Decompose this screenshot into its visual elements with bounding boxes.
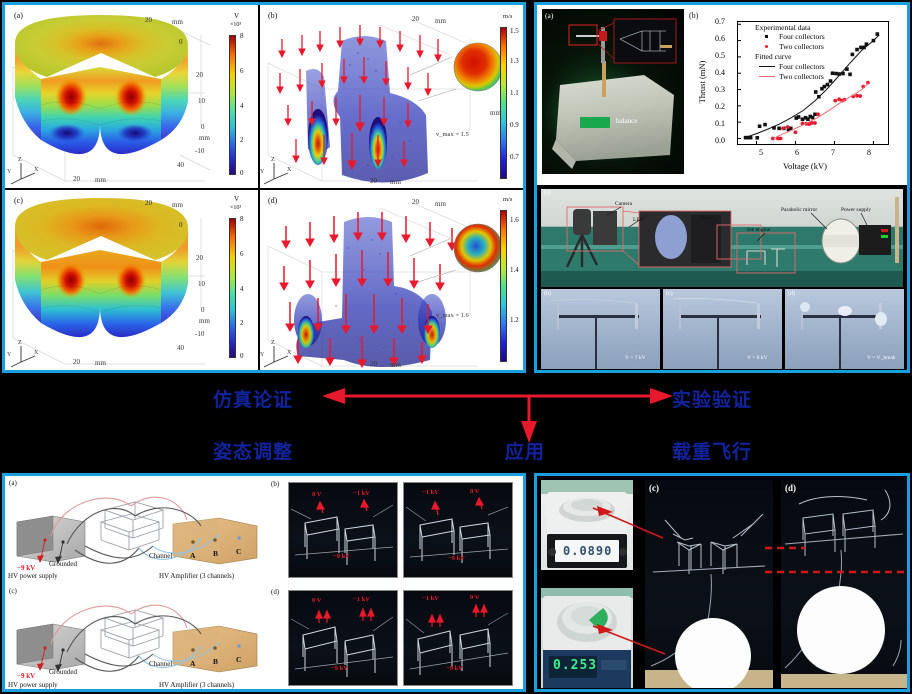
panel-simulation: (a) [2,2,526,373]
colorbar-tick-4-c: 4 [240,285,244,293]
label-d-left-9kv: −9 kV [331,665,348,672]
label-d-left-0v: 0 V [312,597,321,604]
flight-photo-c: (c) [645,480,773,688]
colorbar-exponent-c: ×10³ [230,205,241,211]
colorbar-title-d: m/s [503,196,512,203]
vmax-annotation-b: v_max = 1.5 [436,131,469,138]
channel-word-c: Channel [149,660,172,668]
axis-tick-r0b-a: 0 [201,123,205,131]
balance-a-reading: 0.0890 [563,544,612,558]
thruster-photos-b: (b) 0 [268,476,526,583]
thruster-photos-d: (d) [268,584,526,692]
thruster-photo-d-right: −1 kV 0 V −9 kV [403,590,513,686]
axis-y-d: Y [260,352,264,358]
label-b-left-0v: 0 V [312,491,321,498]
label-d-right-1kv: −1 kV [422,595,439,602]
axis-z-d: Z [271,340,275,346]
axis-tick-top-20-c: 20 [145,199,152,207]
channel-a-label-c: A [190,659,195,668]
axis-tick-b20-a: 20 [73,175,80,183]
axis-tick-r0-a: 0 [179,38,183,46]
channel-c-label-c: C [236,655,241,664]
axis-z-c: Z [18,340,22,346]
ytick-7: 0.0 [715,136,725,145]
axis-tick-bot-20-b: 20 [370,177,377,185]
balance-photo-a: (a) 0.0890 [541,480,633,570]
supply-voltage-a: −9 kV [17,564,35,572]
schlieren-b-caption: V = 7 kV [625,355,646,361]
colorbar-tick-0-c: 0 [240,352,244,360]
ytick-6: 0.1 [715,119,725,128]
colorbar-a [229,35,236,175]
colorbar-tick-4-a: 4 [240,102,244,110]
setup-label-parabolic-mirror: Parabolic mirror [781,207,817,213]
axis-tick-top-20-b: 20 [412,15,419,23]
axis-unit-bottom-c: mm [95,359,106,367]
axis-tick-r0-c: 0 [179,221,183,229]
schlieren-frame-c: (c) V = 8 kV [663,289,782,369]
schematic-a: (a) [5,476,267,583]
center-annotation-band: 仿真论证 实验验证 姿态调整 应用 载重飞行 [0,375,912,471]
channel-b-label: B [213,549,218,558]
colorbar-d [500,210,507,362]
balance-label: balance [616,117,637,125]
colorbar-tick-0-a: 0 [240,169,244,177]
legend-line-two-collectors [759,76,775,77]
experiment-top-strip: (a) [537,5,907,185]
axis-tick-top-20-a: 20 [145,16,152,24]
axis-tick-b40-c: 40 [177,344,184,352]
xtick-0: 5 [759,148,763,157]
axis-y-b: Y [260,169,264,175]
subpanel-b-velocity: (b) [260,5,523,188]
amplifier-name-a: HV Amplifier (3 channels) [159,572,234,580]
schematic-c: (c) [5,584,267,692]
axis-unit-top-c: mm [172,201,183,209]
axis-unit-top-d: mm [435,200,446,208]
center-arrows [0,375,912,471]
axis-tick-b40-a: 40 [177,161,184,169]
channel-c-label: C [236,547,241,556]
flight-photo-d: (d) [781,480,907,688]
ytick-5: 0.2 [715,102,725,111]
axis-z-b: Z [271,157,275,163]
colorbar-tick-13-b: 1.3 [510,57,519,65]
axis-tick-bot-20-d: 20 [370,360,377,368]
axis-tick-rm10-a: -10 [195,147,204,155]
axis-unit-bottom-b: mm [390,178,401,186]
label-d-right-0v: 0 V [470,594,479,601]
panel-experiment: (a) [534,2,910,373]
schlieren-d-caption: V = V_break [867,355,896,361]
thruster-b-tag: (b) [271,480,279,488]
setup-label-power-supply: Power supply [841,207,871,213]
axis-tick-top-20-d: 20 [412,198,419,206]
lab-setup-photo: (a) [541,189,903,287]
setup-label-led: LED [633,217,644,223]
colorbar-tick-6-a: 6 [240,67,244,75]
axis-unit-top-b: mm [435,17,446,25]
axis-tick-rm10-c: -10 [195,330,204,338]
balance-photo-b: (b) 0.253 [541,588,633,688]
figure-root: (a) [0,0,912,694]
xtick-2: 7 [831,148,835,157]
schlieren-c-caption: V = 8 kV [747,355,768,361]
legend-line-four-collectors [759,66,775,67]
subpanel-a-potential: (a) [5,5,258,188]
colorbar-tick-16-d: 1.6 [510,216,519,224]
setup-label-camera: Camera [615,201,632,207]
colorbar-b [500,27,507,179]
amplifier-name-c: HV Amplifier (3 channels) [159,681,234,689]
colorbar-title-a: V [234,12,239,20]
thrust-balance-photo: (a) [542,9,684,174]
ytick-0: 0.7 [715,17,725,26]
thruster-photo-b-right: −1 kV 0 V −9 kV [403,482,513,578]
supply-name-a: HV power supply [8,572,58,580]
legend-item-1a: Four collectors [779,32,825,41]
axis-unit-top-a: mm [172,18,183,26]
axis-y-c: Y [7,352,11,358]
axis-y-a: Y [7,169,11,175]
panel-attitude-control: (a) [2,473,526,692]
colorbar-tick-07-b: 0.7 [510,153,519,161]
axis-unit-bottom-a: mm [95,176,106,184]
setup-label-blade: Blade [701,215,714,221]
channel-word-a: Channel [149,552,172,560]
label-b-left-1kv: −1 kV [353,490,370,497]
channel-b-label-c: B [213,657,218,666]
vmax-annotation-d: v_max = 1.6 [436,312,469,319]
axis-unit-right-c: mm [199,317,210,325]
axis-z-a: Z [18,157,22,163]
subpanel-c-potential: (c) [5,190,258,372]
xtick-1: 6 [795,148,799,157]
colorbar-tick-2-a: 2 [240,136,244,144]
colorbar-tick-6-c: 6 [240,250,244,258]
label-b-right-1kv: −1 kV [422,489,439,496]
axis-x-c: X [34,350,38,356]
axis-x-d: X [287,350,291,356]
ytick-2: 0.5 [715,51,725,60]
channel-a-label: A [190,551,195,560]
colorbar-tick-12-d: 1.2 [510,316,519,324]
supply-voltage-c: −9 kV [17,672,35,680]
colorbar-title-b: m/s [503,13,512,20]
axis-tick-r10-c: 10 [198,280,205,288]
colorbar-tick-8-a: 8 [240,32,244,40]
colorbar-tick-15-b: 1.5 [510,27,519,35]
xtick-3: 8 [867,148,871,157]
legend-group-2: Fitted curve [755,52,791,61]
ytick-1: 0.6 [715,34,725,43]
axis-x-a: X [34,167,38,173]
chart-ylabel: Thrust (mN) [697,50,707,114]
balance-b-reading: 0.253 [553,658,597,673]
thruster-photo-b-left: 0 V −1 kV −9 kV [288,482,398,578]
axis-tick-r0b-c: 0 [201,306,205,314]
legend-marker-four-collectors [765,35,768,38]
thruster-photo-d-left: 0 V −1 kV −9 kV [288,590,398,686]
chart-xlabel: Voltage (kV) [783,161,827,171]
axis-tick-r20-c: 20 [196,254,203,262]
colorbar-tick-11-b: 1.1 [510,89,519,97]
grounded-label-a: Grounded [49,560,77,568]
label-b-right-0v: 0 V [470,488,479,495]
velocity-field-d [260,190,523,372]
axis-unit-bottom-d: mm [390,361,401,369]
colorbar-exponent-a: ×10³ [230,22,241,28]
colorbar-title-c: V [234,195,239,203]
colorbar-tick-8-c: 8 [240,215,244,223]
axis-tick-r20-a: 20 [196,71,203,79]
legend-item-2b: Two collectors [779,72,824,81]
supply-name-c: HV power supply [8,681,58,689]
velocity-field-b [260,5,523,188]
ytick-3: 0.4 [715,68,725,77]
thruster-d-tag: (d) [271,588,279,596]
thrust-voltage-chart: (b) 0.7 0.6 0.5 0.4 0.3 0.2 0.1 0.0 5 6 … [689,9,904,181]
legend-group-1: Experimental data [755,23,810,32]
panel-payload-flight: (a) 0.0890 (b) [534,473,910,692]
schlieren-frame-d: (d) V = V_break [785,289,904,369]
axis-tick-b20-c: 20 [73,358,80,366]
setup-label-ion-engine: Ion engine [747,227,770,233]
label-b-left-9kv: −9 kV [333,553,350,560]
colorbar-c [229,218,236,358]
axis-unit-right-a: mm [199,134,210,142]
axis-tick-r10-a: 10 [198,97,205,105]
legend-item-1b: Two collectors [779,42,824,51]
label-b-right-9kv: −9 kV [448,555,465,562]
ytick-4: 0.3 [715,85,725,94]
schlieren-frame-b: (b) V = 7 kV [541,289,660,369]
colorbar-tick-09-b: 0.9 [510,121,519,129]
label-d-right-9kv: −9 kV [446,665,463,672]
subpanel-d-velocity: (d) [260,190,523,372]
grounded-label-c: Grounded [49,668,77,676]
legend-item-2a: Four collectors [779,62,825,71]
axis-x-b: X [287,167,291,173]
label-d-left-1kv: −1 kV [353,596,370,603]
colorbar-tick-14-d: 1.4 [510,266,519,274]
colorbar-tick-2-c: 2 [240,319,244,327]
